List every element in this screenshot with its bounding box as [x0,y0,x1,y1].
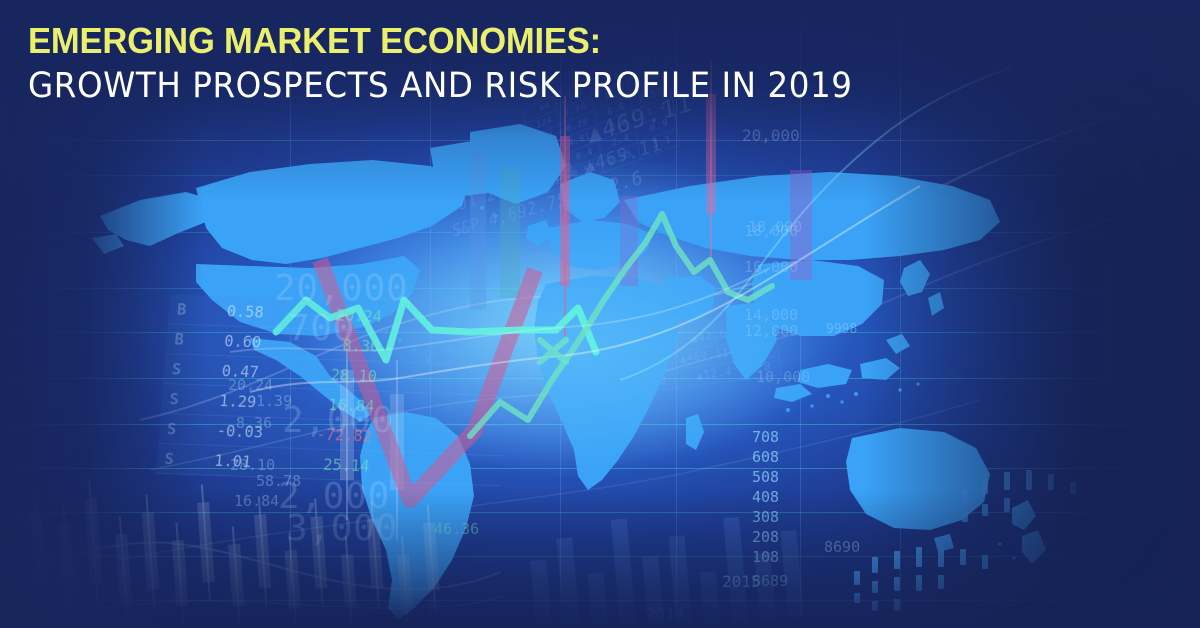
page-subtitle: GROWTH PROSPECTS AND RISK PROFILE IN 201… [28,67,853,106]
page-title: EMERGING MARKET ECONOMIES: [28,22,879,61]
banner-root: 641.23.8421 1247.482.18.59 -1216.208.62.… [0,0,1200,628]
headline-block: EMERGING MARKET ECONOMIES: GROWTH PROSPE… [28,22,915,105]
